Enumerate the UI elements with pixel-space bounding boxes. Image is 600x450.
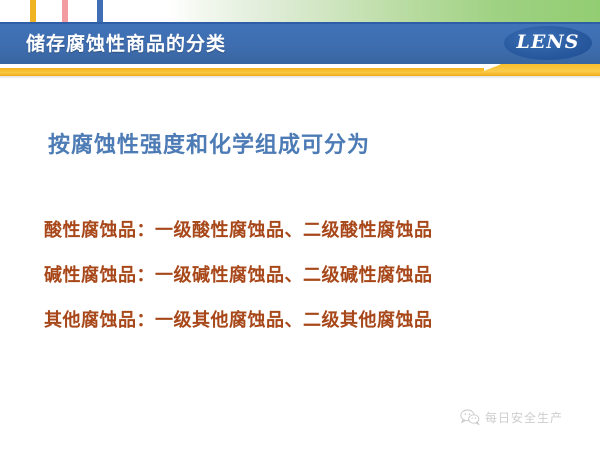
tick-mark-orange — [30, 0, 36, 22]
accent-band-shadow — [0, 76, 600, 79]
accent-band — [0, 64, 600, 76]
tick-mark-pink — [62, 0, 68, 22]
section-heading: 按腐蚀性强度和化学组成可分为 — [48, 127, 370, 159]
watermark: 每日安全生产 — [460, 408, 563, 426]
tick-mark-blue — [97, 0, 103, 22]
accent-band-left — [0, 68, 484, 76]
list-item: 其他腐蚀品：一级其他腐蚀品、二级其他腐蚀品 — [44, 298, 584, 343]
accent-band-right — [500, 64, 600, 76]
top-decorative-strip — [0, 0, 600, 22]
classification-list: 酸性腐蚀品：一级酸性腐蚀品、二级酸性腐蚀品 碱性腐蚀品：一级碱性腐蚀品、二级碱性… — [44, 208, 584, 343]
slide-content: 按腐蚀性强度和化学组成可分为 酸性腐蚀品：一级酸性腐蚀品、二级酸性腐蚀品 碱性腐… — [0, 80, 600, 450]
green-gradient-band — [0, 0, 600, 22]
page-title: 储存腐蚀性商品的分类 — [26, 29, 226, 56]
slide-canvas: 储存腐蚀性商品的分类 LENS 按腐蚀性强度和化学组成可分为 酸性腐蚀品：一级酸… — [0, 0, 600, 450]
wechat-icon — [460, 408, 480, 426]
lens-logo-text: LENS — [504, 31, 592, 53]
list-item: 碱性腐蚀品：一级碱性腐蚀品、二级碱性腐蚀品 — [44, 253, 584, 298]
list-item: 酸性腐蚀品：一级酸性腐蚀品、二级酸性腐蚀品 — [44, 208, 584, 253]
watermark-text: 每日安全生产 — [485, 409, 563, 426]
